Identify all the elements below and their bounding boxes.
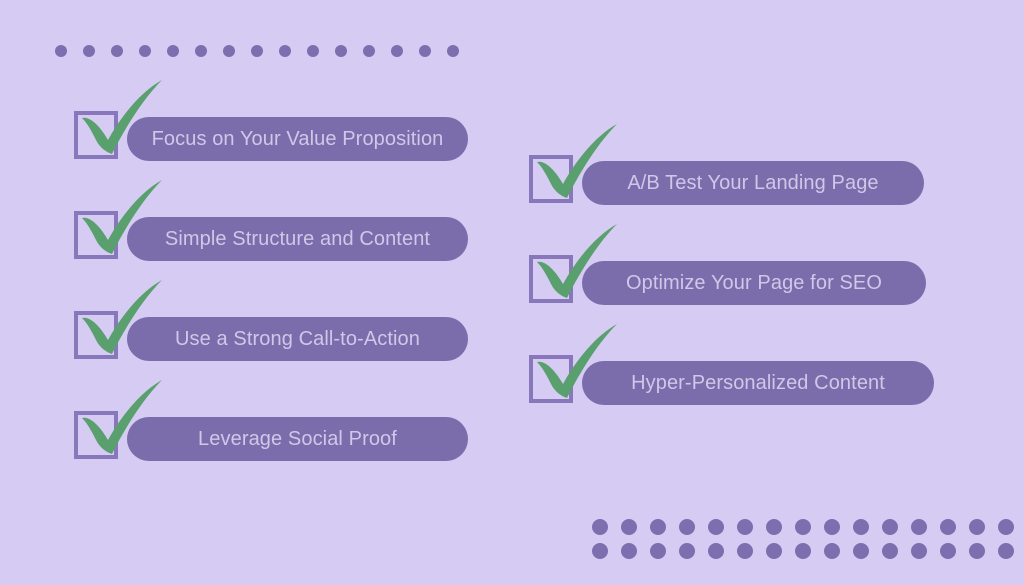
checklist-label-seo[interactable]: Optimize Your Page for SEO — [582, 261, 926, 305]
checklist-label-strong-cta[interactable]: Use a Strong Call-to-Action — [127, 317, 468, 361]
decorative-dot — [737, 543, 753, 559]
decorative-dot — [911, 543, 927, 559]
checklist-label-simple-structure[interactable]: Simple Structure and Content — [127, 217, 468, 261]
decorative-dot — [167, 45, 179, 57]
decorative-dot — [969, 519, 985, 535]
checklist-label-value-proposition[interactable]: Focus on Your Value Proposition — [127, 117, 468, 161]
decorative-dot — [650, 543, 666, 559]
checkbox-value-proposition[interactable] — [74, 111, 118, 159]
decorative-dot-column — [708, 519, 724, 559]
checkbox-social-proof[interactable] — [74, 411, 118, 459]
decorative-dot — [940, 543, 956, 559]
decorative-dot-column — [795, 519, 811, 559]
checkbox-seo[interactable] — [529, 255, 573, 303]
decorative-dot — [853, 519, 869, 535]
decorative-dot — [650, 519, 666, 535]
decorative-dot — [795, 519, 811, 535]
decorative-dot — [55, 45, 67, 57]
decorative-dot-column — [679, 519, 695, 559]
bottom-dot-grid — [592, 519, 1014, 559]
checklist-label-ab-test[interactable]: A/B Test Your Landing Page — [582, 161, 924, 205]
decorative-dot — [307, 45, 319, 57]
decorative-dot — [998, 543, 1014, 559]
decorative-dot-column — [882, 519, 898, 559]
decorative-dot — [737, 519, 753, 535]
decorative-dot — [679, 519, 695, 535]
decorative-dot — [708, 519, 724, 535]
decorative-dot — [195, 45, 207, 57]
decorative-dot — [795, 543, 811, 559]
top-dot-row — [55, 45, 459, 57]
decorative-dot — [251, 45, 263, 57]
decorative-dot — [853, 543, 869, 559]
decorative-dot — [279, 45, 291, 57]
decorative-dot-column — [969, 519, 985, 559]
decorative-dot — [766, 519, 782, 535]
decorative-dot-column — [650, 519, 666, 559]
decorative-dot — [679, 543, 695, 559]
decorative-dot-column — [853, 519, 869, 559]
decorative-dot — [111, 45, 123, 57]
decorative-dot — [391, 45, 403, 57]
decorative-dot-column — [621, 519, 637, 559]
decorative-dot-column — [737, 519, 753, 559]
decorative-dot — [708, 543, 724, 559]
decorative-dot — [592, 543, 608, 559]
decorative-dot — [419, 45, 431, 57]
decorative-dot — [139, 45, 151, 57]
decorative-dot-column — [940, 519, 956, 559]
decorative-dot — [824, 543, 840, 559]
checklist-infographic: Focus on Your Value PropositionSimple St… — [0, 0, 1024, 585]
decorative-dot — [766, 543, 782, 559]
decorative-dot — [882, 543, 898, 559]
decorative-dot-column — [998, 519, 1014, 559]
decorative-dot — [824, 519, 840, 535]
decorative-dot-column — [766, 519, 782, 559]
decorative-dot-column — [592, 519, 608, 559]
checklist-label-hyper-personalized[interactable]: Hyper-Personalized Content — [582, 361, 934, 405]
decorative-dot — [911, 519, 927, 535]
decorative-dot — [621, 519, 637, 535]
decorative-dot — [969, 543, 985, 559]
decorative-dot — [447, 45, 459, 57]
checkbox-simple-structure[interactable] — [74, 211, 118, 259]
decorative-dot — [363, 45, 375, 57]
decorative-dot-column — [911, 519, 927, 559]
decorative-dot — [83, 45, 95, 57]
decorative-dot — [592, 519, 608, 535]
decorative-dot — [940, 519, 956, 535]
decorative-dot-column — [824, 519, 840, 559]
decorative-dot — [882, 519, 898, 535]
decorative-dot — [998, 519, 1014, 535]
checkbox-ab-test[interactable] — [529, 155, 573, 203]
checkbox-hyper-personalized[interactable] — [529, 355, 573, 403]
checklist-label-social-proof[interactable]: Leverage Social Proof — [127, 417, 468, 461]
decorative-dot — [621, 543, 637, 559]
checkbox-strong-cta[interactable] — [74, 311, 118, 359]
decorative-dot — [223, 45, 235, 57]
decorative-dot — [335, 45, 347, 57]
